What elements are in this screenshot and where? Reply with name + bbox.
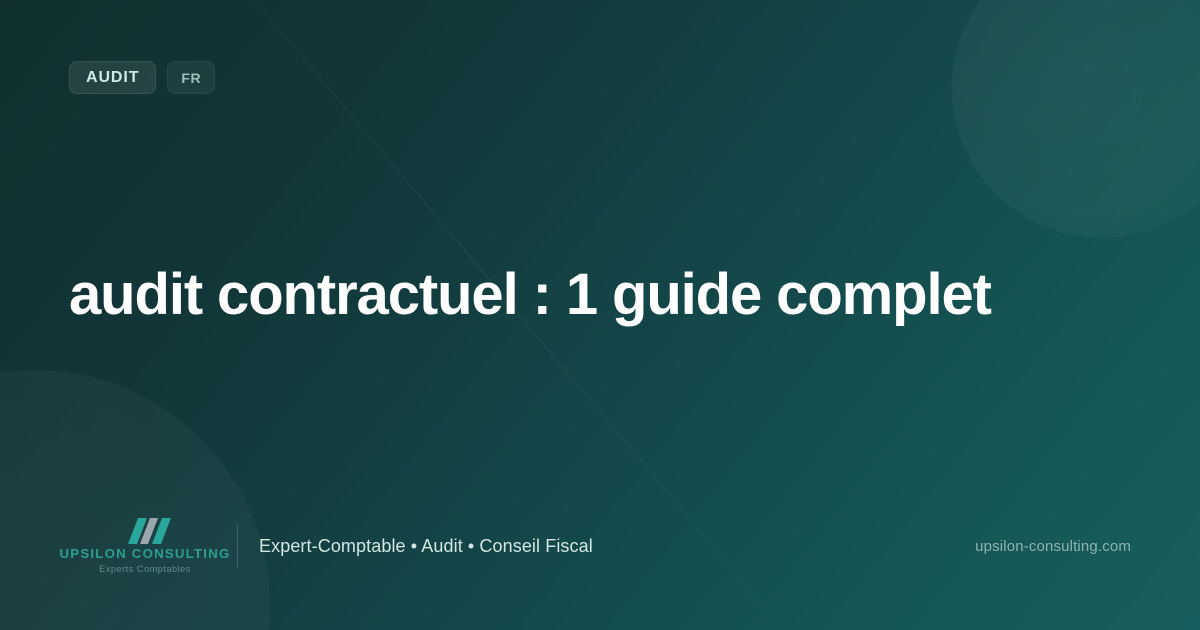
brand-logo: UPSILON CONSULTING Experts Comptables [69, 518, 221, 573]
og-share-card: AUDIT FR audit contractuel : 1 guide com… [0, 0, 1200, 630]
card-footer: UPSILON CONSULTING Experts Comptables Ex… [69, 505, 1131, 587]
page-title: audit contractuel : 1 guide complet [69, 262, 1079, 328]
footer-divider [237, 525, 238, 567]
badge-group: AUDIT FR [69, 61, 215, 94]
services-list: Expert-Comptable • Audit • Conseil Fisca… [259, 536, 593, 557]
brand-tagline: Experts Comptables [99, 565, 191, 574]
category-badge[interactable]: AUDIT [69, 61, 156, 94]
brand-name: UPSILON CONSULTING [60, 547, 231, 560]
language-badge[interactable]: FR [167, 61, 215, 94]
site-url[interactable]: upsilon-consulting.com [975, 538, 1131, 555]
decorative-circle-top-right-icon [952, 0, 1200, 238]
decorative-circle-bottom-left-icon [0, 370, 270, 630]
three-slanted-bars-logo-icon [114, 518, 176, 544]
